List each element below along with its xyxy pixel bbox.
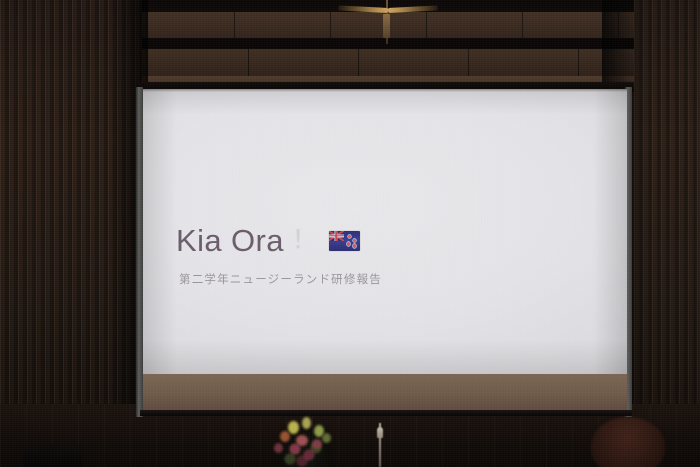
auditorium-photo: Kia Ora ！ [0,0,700,467]
slide-title-row: Kia Ora ！ [176,225,360,256]
screen-lower-band [143,374,627,411]
ceiling-beam-middle [138,49,638,76]
projection-screen: Kia Ora ！ [143,89,627,415]
screen-bottom-bar [140,410,632,416]
slide-subtitle: 第二学年ニュージーランド研修報告 [179,271,382,287]
foreground-dark-block [24,445,82,467]
microphone-stand [374,423,386,467]
ceiling-beam-gap [138,38,638,49]
screen-rail-left [136,87,143,417]
flower-arrangement [262,415,348,467]
presentation-slide: Kia Ora ！ [143,89,627,374]
slide-title: Kia Ora [176,225,284,256]
audience-head-silhouette [591,417,665,467]
slide-title-punctuation: ！ [292,228,317,253]
projection-area: Kia Ora ！ [143,89,627,374]
new-zealand-flag-icon [329,231,360,251]
